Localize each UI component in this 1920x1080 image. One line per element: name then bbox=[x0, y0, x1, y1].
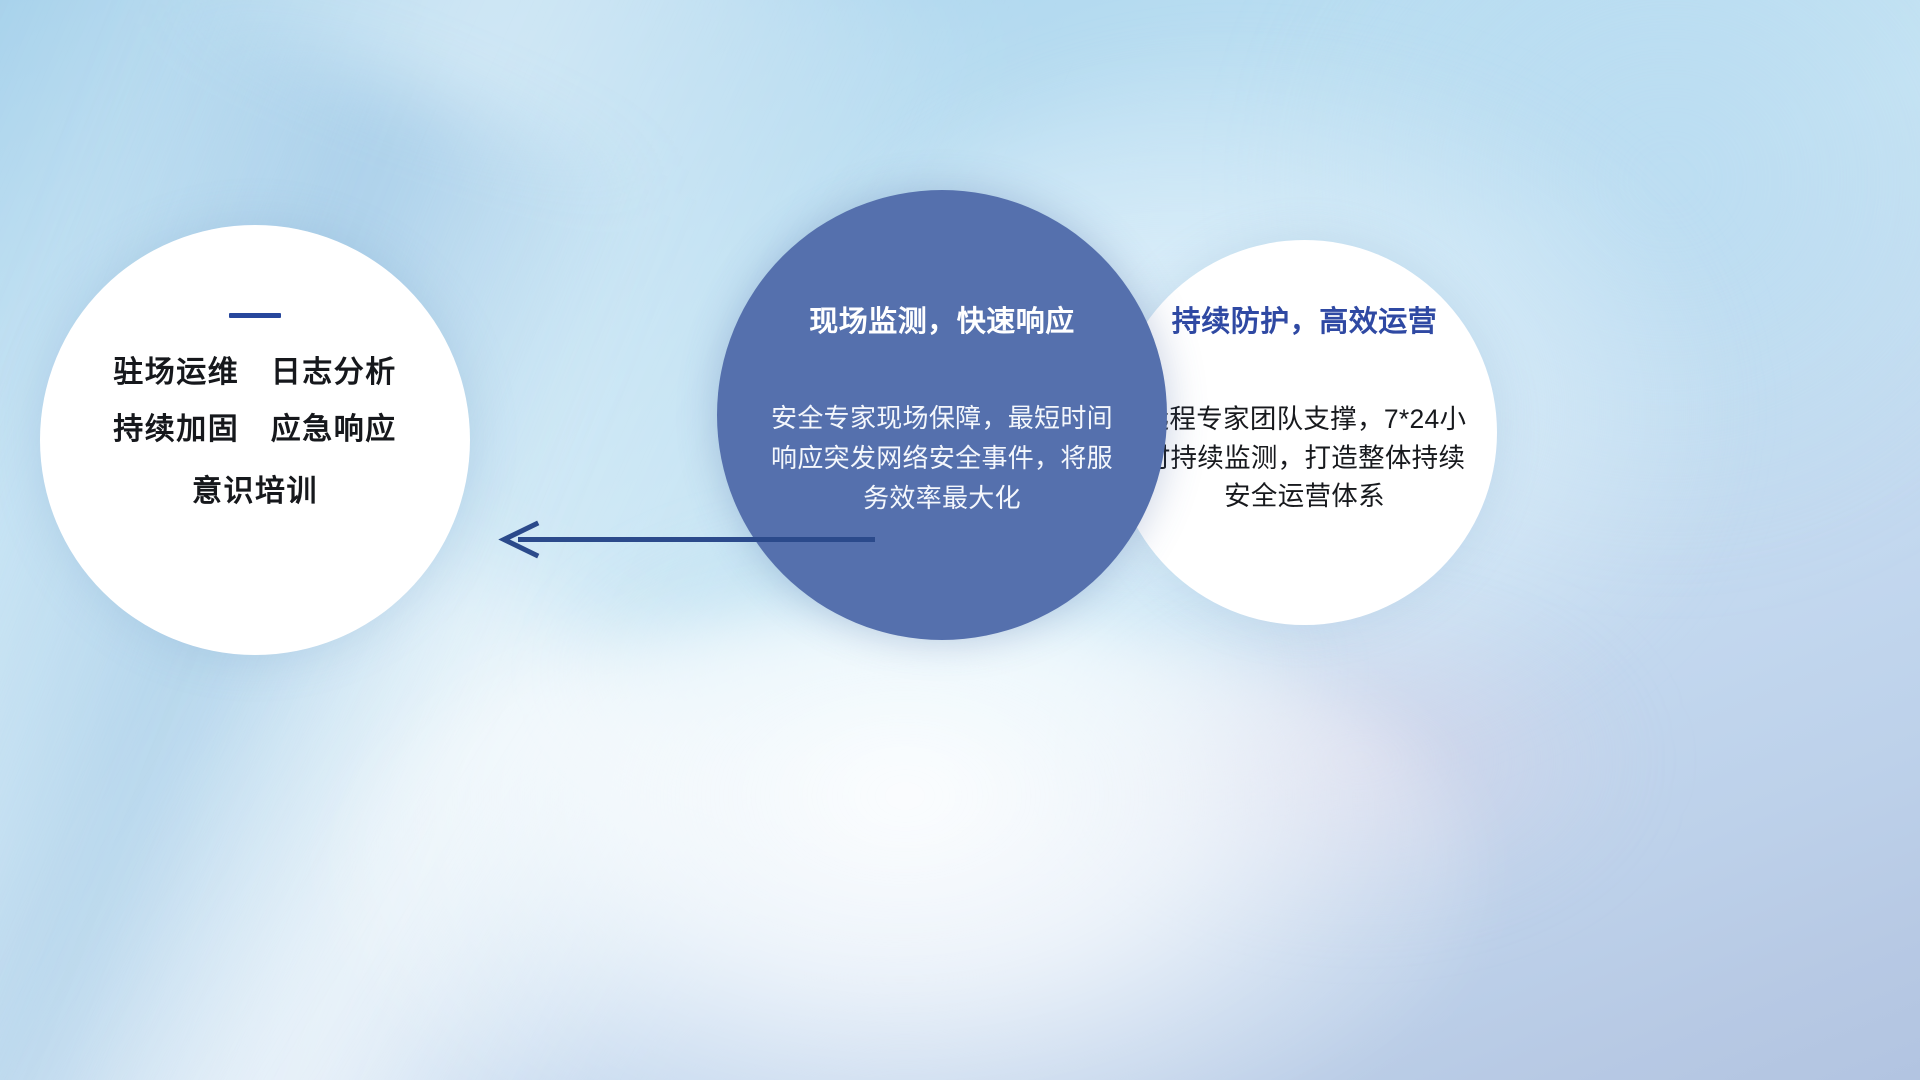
card-continuous-protection[interactable]: 持续防护，高效运营 远程专家团队支撑，7*24小时持续监测，打造整体持续安全运营… bbox=[1112, 240, 1497, 625]
left-circle-line-3: 意识培训 bbox=[192, 477, 318, 507]
right-circle-body: 远程专家团队支撑，7*24小时持续监测，打造整体持续安全运营体系 bbox=[1134, 400, 1475, 516]
arrow-left-icon bbox=[490, 518, 875, 562]
left-circle-line-1: 驻场运维 日志分析 bbox=[113, 358, 397, 388]
card-service-capabilities[interactable]: 驻场运维 日志分析 持续加固 应急响应 意识培训 bbox=[40, 225, 470, 655]
right-circle-title: 持续防护，高效运营 bbox=[1112, 298, 1497, 340]
blue-circle-body: 安全专家现场保障，最短时间响应突发网络安全事件，将服务效率最大化 bbox=[769, 398, 1115, 518]
divider-dash bbox=[229, 313, 281, 318]
left-circle-line-2: 持续加固 应急响应 bbox=[113, 415, 397, 445]
card-onsite-monitoring[interactable]: 现场监测，快速响应 安全专家现场保障，最短时间响应突发网络安全事件，将服务效率最… bbox=[717, 190, 1167, 640]
blue-circle-title: 现场监测，快速响应 bbox=[717, 298, 1167, 340]
